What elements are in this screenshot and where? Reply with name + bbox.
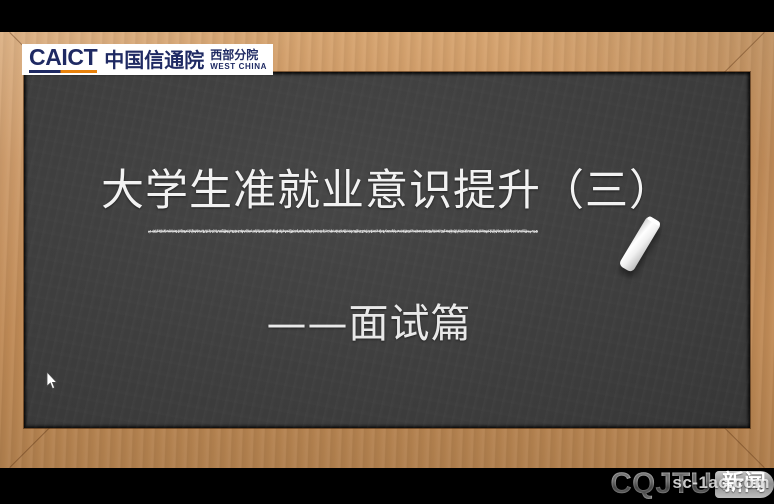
- slide-subtitle: ——面试篇: [0, 291, 774, 349]
- caict-logo-banner: CAICT 中国信通院 西部分院 WEST CHINA: [22, 44, 273, 75]
- caict-org-name-cn: 中国信通院: [104, 50, 204, 70]
- caict-branch-name-cn: 西部分院: [210, 49, 267, 61]
- caict-branch-block: 西部分院 WEST CHINA: [210, 49, 267, 71]
- mouse-cursor-arrow-icon: [46, 372, 58, 390]
- caict-branch-name-en: WEST CHINA: [210, 63, 267, 71]
- video-slide-frame: CAICT 中国信通院 西部分院 WEST CHINA 大学生准就业意识提升（三…: [0, 0, 774, 504]
- slide-title: 大学生准就业意识提升（三）: [0, 156, 774, 218]
- watermark-site-overlay: sc-1ac.com: [672, 473, 770, 493]
- caict-acronym-logo: CAICT: [29, 46, 97, 73]
- chalk-underline-stroke: [148, 229, 538, 234]
